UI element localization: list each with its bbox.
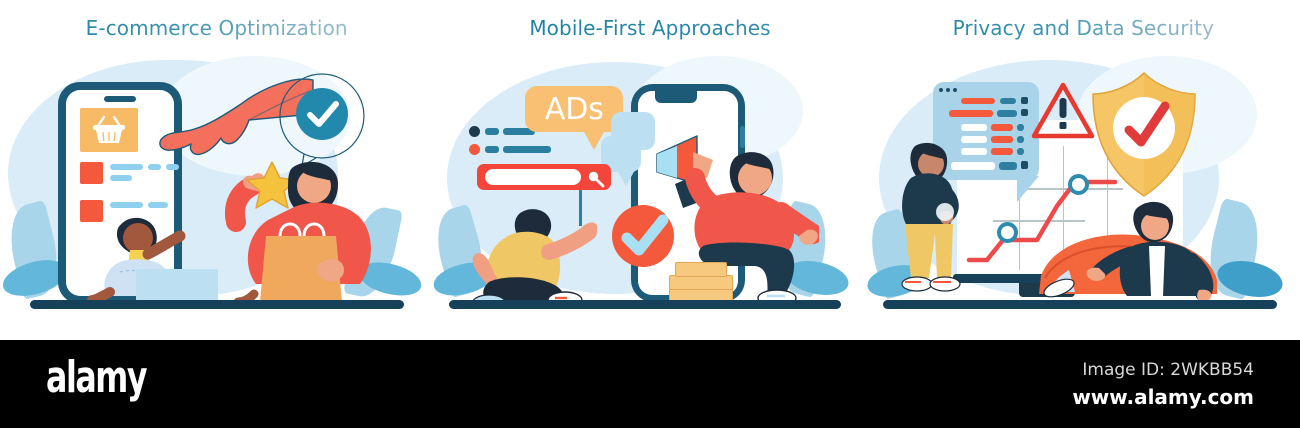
shopping-basket-icon: [90, 114, 128, 146]
dialog-row-1-sq: [1021, 97, 1028, 104]
chart-node-2: [1068, 174, 1089, 195]
ground-bar: [449, 300, 841, 309]
alamy-url-label[interactable]: www.alamy.com: [1072, 385, 1254, 409]
bullet-line-2a: [485, 146, 499, 153]
dialog-row-3-label: [961, 124, 987, 131]
panel-mobile-first: Mobile-First Approaches: [433, 0, 866, 340]
magnifier-icon[interactable]: [585, 168, 605, 188]
standing-woman: [893, 138, 973, 302]
list-line-1b: [148, 164, 161, 170]
bullet-line-2b: [503, 146, 551, 153]
list-line-1a: [110, 164, 143, 170]
ground-bar: [30, 300, 404, 309]
dialog-row-6-sq: [1021, 161, 1028, 169]
dialog-row-5-bar: [991, 148, 1013, 155]
panel-ecommerce: E-commerce Optimization: [0, 0, 433, 340]
dialog-row-2-tag: [997, 110, 1017, 117]
warning-triangle-icon: [1031, 82, 1095, 140]
search-input[interactable]: [485, 169, 581, 185]
artwork-ecommerce: [0, 56, 433, 328]
watermark-bar: alamy Image ID: 2WKBB54 www.alamy.com: [0, 340, 1300, 428]
ads-bubble: ADs: [525, 86, 623, 132]
artwork-privacy: [867, 56, 1300, 328]
woman-with-star: [196, 134, 386, 304]
dialog-row-2-bar: [949, 110, 993, 117]
dialog-row-1-bar: [961, 98, 995, 104]
dialog-dot-1: [939, 88, 943, 92]
dialog-row-4-bar: [991, 136, 1013, 143]
chart-node-1: [997, 222, 1018, 243]
alamy-logo: alamy: [46, 356, 146, 400]
illustration-set: E-commerce Optimization: [0, 0, 1300, 428]
dialog-dot-3: [953, 88, 957, 92]
list-line-1c: [166, 164, 179, 170]
shield-check-icon: [1089, 70, 1199, 200]
image-id-label: Image ID: 2WKBB54: [1082, 360, 1254, 380]
bullet-line-1a: [485, 128, 499, 135]
panel-title-ecommerce: E-commerce Optimization: [0, 16, 433, 40]
ads-label: ADs: [545, 92, 604, 127]
dialog-dot-2: [946, 88, 950, 92]
dialog-row-1-tag: [1000, 98, 1016, 104]
list-thumb-1: [80, 162, 103, 184]
dialog-row-5-sq: [1017, 148, 1024, 155]
coin: [675, 262, 727, 277]
smartphone-notch: [104, 96, 136, 102]
dialog-row-3-sq: [1017, 124, 1024, 131]
coin: [669, 275, 733, 290]
panel-privacy: Privacy and Data Security: [867, 0, 1300, 340]
panel-title-privacy: Privacy and Data Security: [867, 16, 1300, 40]
dialog-row-2-sq: [1021, 109, 1028, 116]
dialog-row-4-sq: [1017, 136, 1024, 143]
ground-bar: [883, 300, 1277, 309]
panel-row: E-commerce Optimization: [0, 0, 1300, 340]
seated-man-pointing: [469, 196, 599, 306]
dialog-row-3-bar: [991, 124, 1013, 131]
chat-bubble-blue-2-tail: [617, 170, 635, 186]
coin-stack-icon: [669, 262, 731, 302]
smartphone-notch: [655, 91, 697, 103]
list-line-1d: [110, 175, 132, 181]
man-on-sofa: [1033, 196, 1253, 304]
artwork-mobile-first: ADs: [433, 56, 866, 328]
panel-title-mobile-first: Mobile-First Approaches: [433, 16, 866, 40]
dialog-row-6-tag: [999, 162, 1017, 170]
